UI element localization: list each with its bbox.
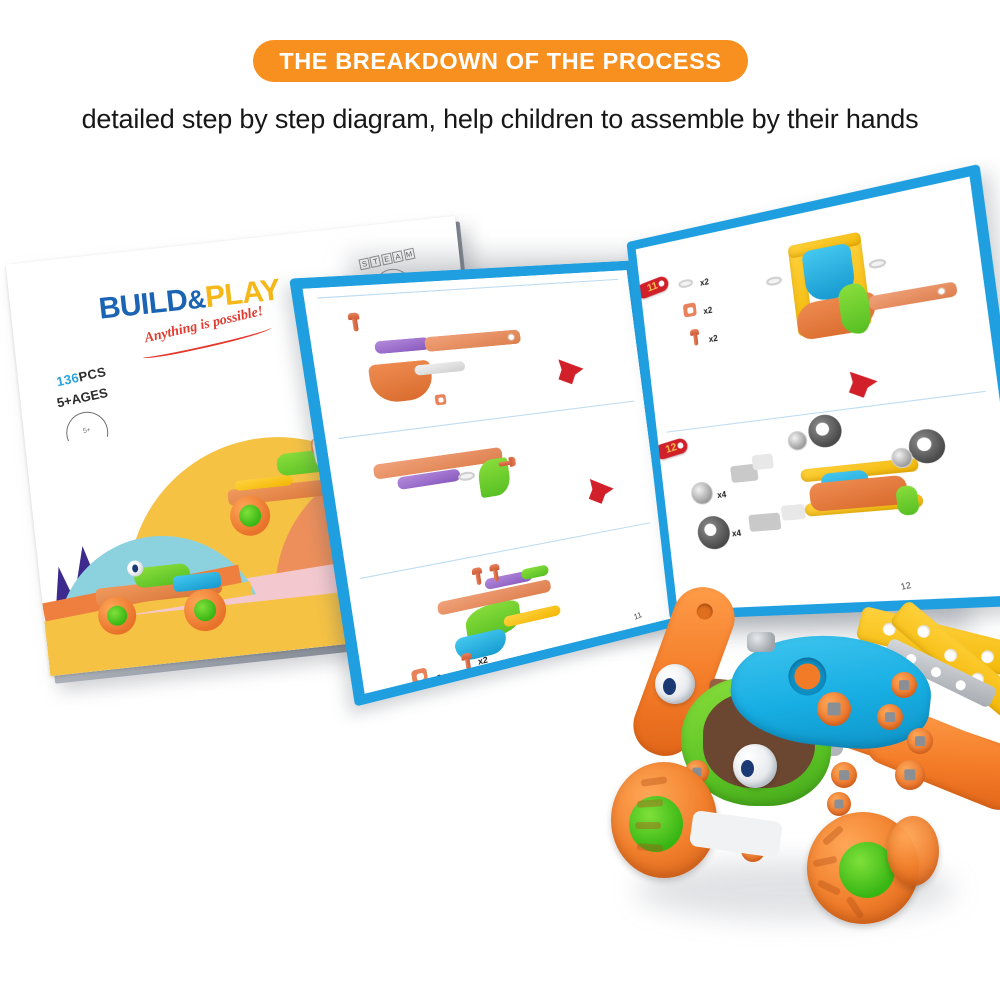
gray-plate-part xyxy=(781,504,806,521)
toy-bolt-lower xyxy=(831,762,857,788)
toy-bolt-wing-right xyxy=(891,672,917,698)
square-nut-icon xyxy=(683,302,697,317)
screw-shaft xyxy=(351,318,358,331)
screw-shaft xyxy=(693,334,698,346)
tread xyxy=(641,776,668,787)
product-marketing-image: THE BREAKDOWN OF THE PROCESS detailed st… xyxy=(0,0,1000,1000)
age-icon-text: 5+ xyxy=(83,427,92,435)
beam-hole xyxy=(942,646,960,664)
tread xyxy=(635,822,661,829)
toy-eye-upper xyxy=(655,664,695,704)
part-qty-label: x2 xyxy=(431,673,443,685)
toy-bolt-nose xyxy=(895,760,925,790)
toy-bolt-lower2 xyxy=(827,792,851,816)
arrow-shaft xyxy=(559,367,576,384)
gray-plate-part xyxy=(748,512,781,531)
subtitle-text: detailed step by step diagram, help chil… xyxy=(0,104,1000,135)
part-qty-label: x2 xyxy=(703,305,713,316)
foreground-assembled-toy xyxy=(595,580,1000,980)
toy-silver-nut xyxy=(747,632,775,652)
rim-icon xyxy=(690,481,714,506)
beam-hole xyxy=(954,679,967,692)
gray-plate-part xyxy=(751,453,774,470)
tread xyxy=(822,825,845,846)
screw-icon xyxy=(471,567,482,575)
book-right-page: 11 x2 x2 x2 xyxy=(626,164,1000,620)
age-label: 5+AGES xyxy=(55,385,109,411)
purple-link-beam xyxy=(374,337,430,354)
washer-icon xyxy=(678,278,693,289)
tread xyxy=(845,896,864,920)
washer-icon xyxy=(868,258,886,270)
tread xyxy=(637,843,663,852)
part-qty-label: x2 xyxy=(477,655,488,667)
toy-bolt-canopy xyxy=(817,692,851,726)
part-qty-label: x4 xyxy=(717,490,727,500)
beam-hole xyxy=(929,665,942,678)
rim-icon xyxy=(787,430,809,451)
flow-arrow-icon xyxy=(843,372,878,400)
wing-hole-left xyxy=(695,601,716,622)
banner-title-pill: THE BREAKDOWN OF THE PROCESS xyxy=(253,40,748,82)
washer-icon xyxy=(458,471,476,482)
toy-pupil-lower xyxy=(741,760,754,777)
beam-hole xyxy=(915,622,933,640)
right-panel-step-12: x4 x4 xyxy=(666,391,1000,602)
flow-arrow-icon xyxy=(553,359,584,386)
left-panel-step-10 xyxy=(317,279,633,427)
screw-icon xyxy=(347,312,359,320)
green-link-beam xyxy=(521,564,550,580)
washer-icon xyxy=(766,275,783,286)
right-panel-step-11: x2 x2 x2 xyxy=(646,193,985,428)
screw-icon xyxy=(690,329,699,337)
arrow-shaft xyxy=(849,380,869,398)
arrow-shaft xyxy=(589,487,606,504)
tread xyxy=(817,879,842,896)
orange-wing-right xyxy=(868,281,958,311)
tire-icon xyxy=(807,413,844,449)
piece-count-number: 136 xyxy=(55,370,80,389)
orange-long-beam xyxy=(424,329,521,352)
square-nut-icon xyxy=(434,394,446,406)
tire-icon xyxy=(696,515,732,550)
tread xyxy=(813,856,838,868)
brand-logo-build: BUILD xyxy=(97,283,189,325)
square-nut-icon xyxy=(411,667,428,685)
toy-bolt-mid xyxy=(877,704,903,730)
toy-eye-lower xyxy=(733,744,777,788)
flow-arrow-icon xyxy=(583,479,613,506)
piece-count-unit: PCS xyxy=(77,364,107,385)
part-qty-label: x4 xyxy=(731,528,741,538)
part-qty-label: x2 xyxy=(708,334,718,345)
toy-wheel-rear xyxy=(887,816,939,886)
part-qty-label: x2 xyxy=(700,277,710,288)
screw-shaft xyxy=(475,573,481,586)
toy-pupil-upper xyxy=(663,678,676,695)
header-area: THE BREAKDOWN OF THE PROCESS detailed st… xyxy=(0,0,1000,160)
banner-title-text: THE BREAKDOWN OF THE PROCESS xyxy=(279,48,721,75)
toy-bolt-nose2 xyxy=(907,728,933,754)
screw-icon xyxy=(489,563,500,571)
screw-icon xyxy=(508,456,516,467)
green-rear-part xyxy=(895,485,920,516)
